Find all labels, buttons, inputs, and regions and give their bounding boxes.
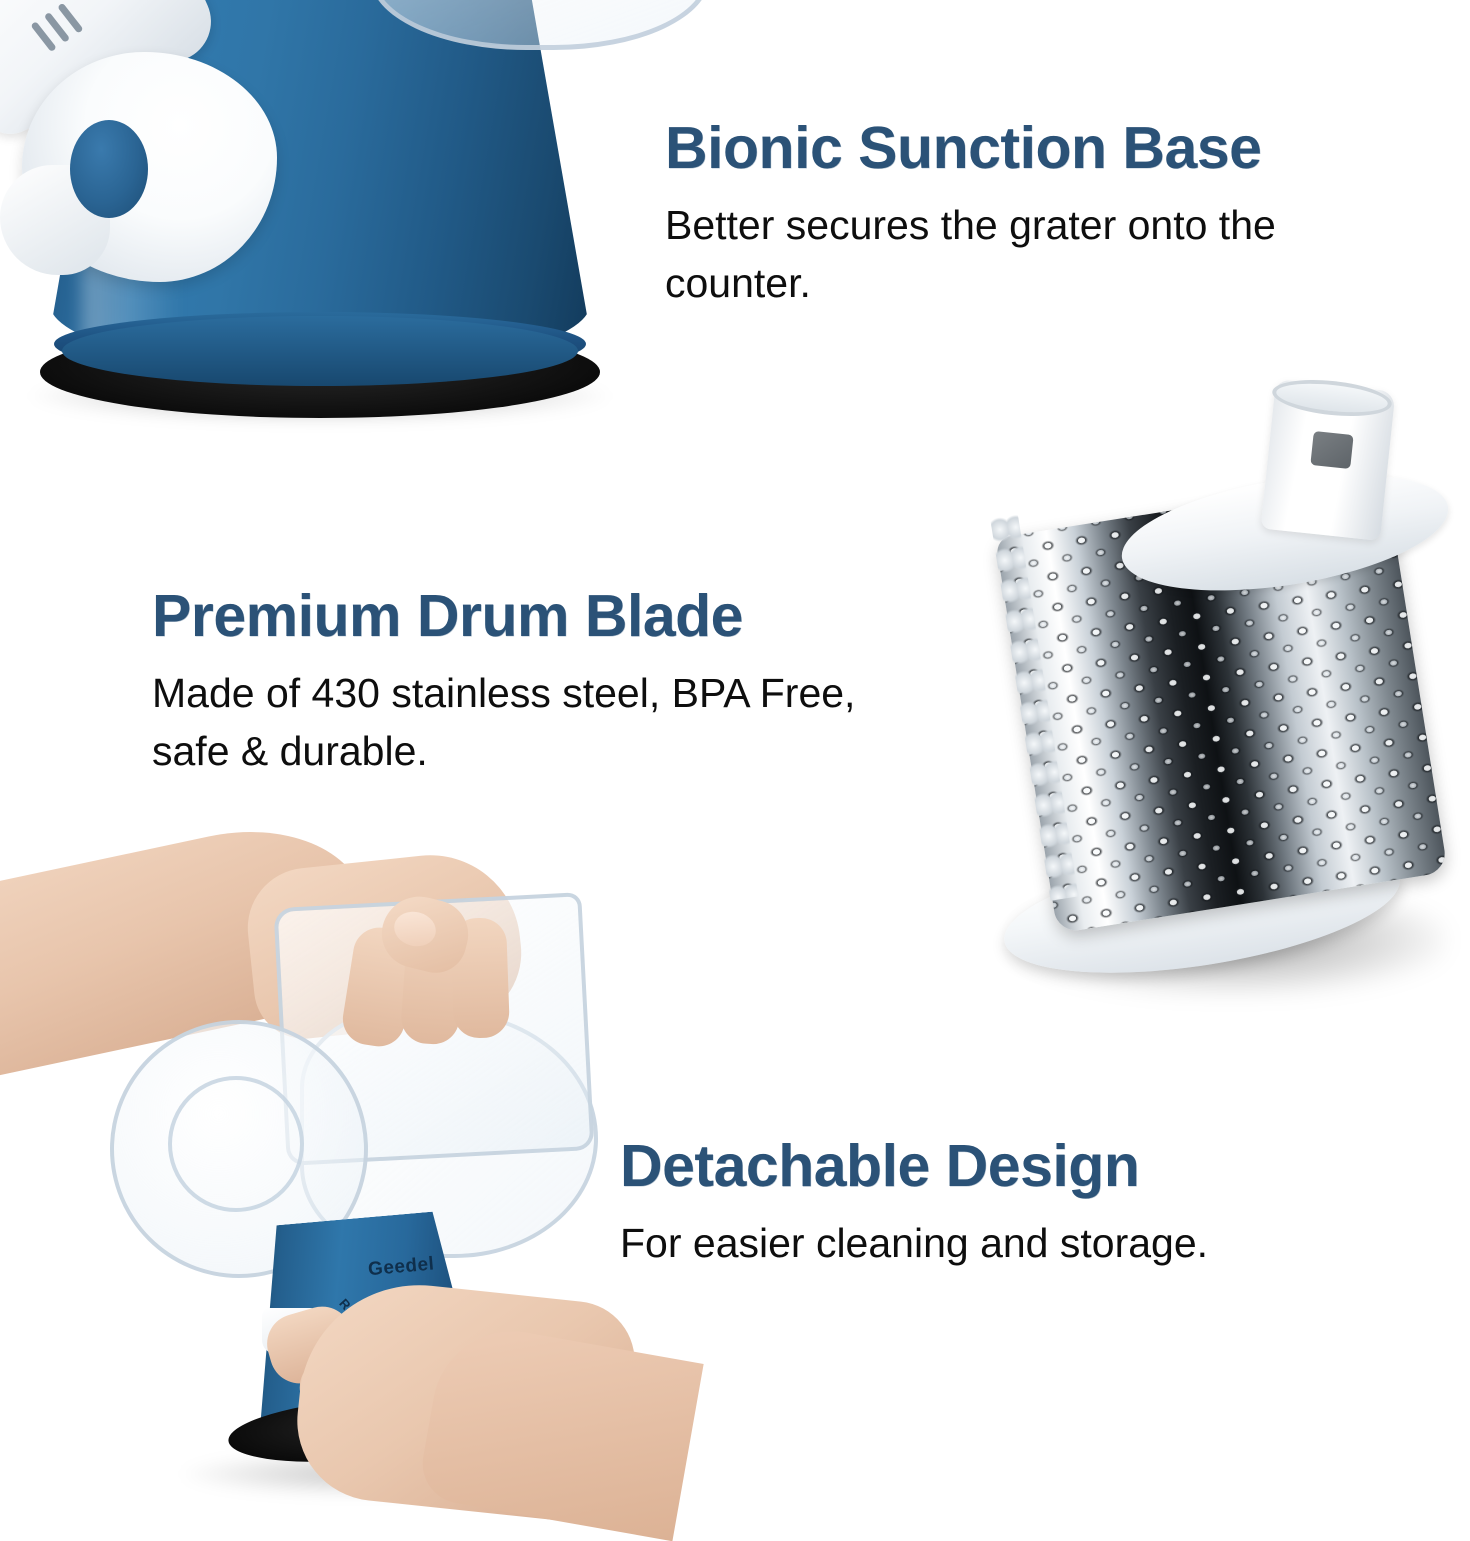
feature-body: For easier cleaning and storage. — [620, 1214, 1380, 1272]
infographic-canvas: Bionic Sunction Base Better secures the … — [0, 0, 1470, 1500]
product-image-suction-base — [0, 0, 670, 460]
feature-bionic-suction-base: Bionic Sunction Base Better secures the … — [665, 118, 1455, 312]
feature-title: Detachable Design — [620, 1136, 1380, 1198]
blue-knob-cap — [70, 120, 148, 218]
feature-body-line: safe & durable. — [152, 722, 1012, 780]
feature-body-line: counter. — [665, 254, 1455, 312]
feature-title: Premium Drum Blade — [152, 586, 1012, 648]
feature-premium-drum-blade: Premium Drum Blade Made of 430 stainless… — [152, 586, 1012, 780]
feature-detachable-design: Detachable Design For easier cleaning an… — [620, 1136, 1380, 1272]
blue-foot-ring — [62, 316, 578, 386]
feature-title: Bionic Sunction Base — [665, 118, 1455, 180]
feature-body-line: Made of 430 stainless steel, BPA Free, — [152, 664, 1012, 722]
product-image-drum-blade — [1010, 385, 1470, 1025]
feature-body: Better secures the grater onto the count… — [665, 196, 1455, 312]
feature-body-line: For easier cleaning and storage. — [620, 1214, 1380, 1272]
feature-body-line: Better secures the grater onto the — [665, 196, 1455, 254]
feature-body: Made of 430 stainless steel, BPA Free, s… — [152, 664, 1012, 780]
clear-hopper-inner-ring — [168, 1076, 304, 1212]
product-image-detachable-design: Geedel LOCK RELEASE — [0, 840, 640, 1500]
adapter-gray-window — [1310, 431, 1353, 469]
